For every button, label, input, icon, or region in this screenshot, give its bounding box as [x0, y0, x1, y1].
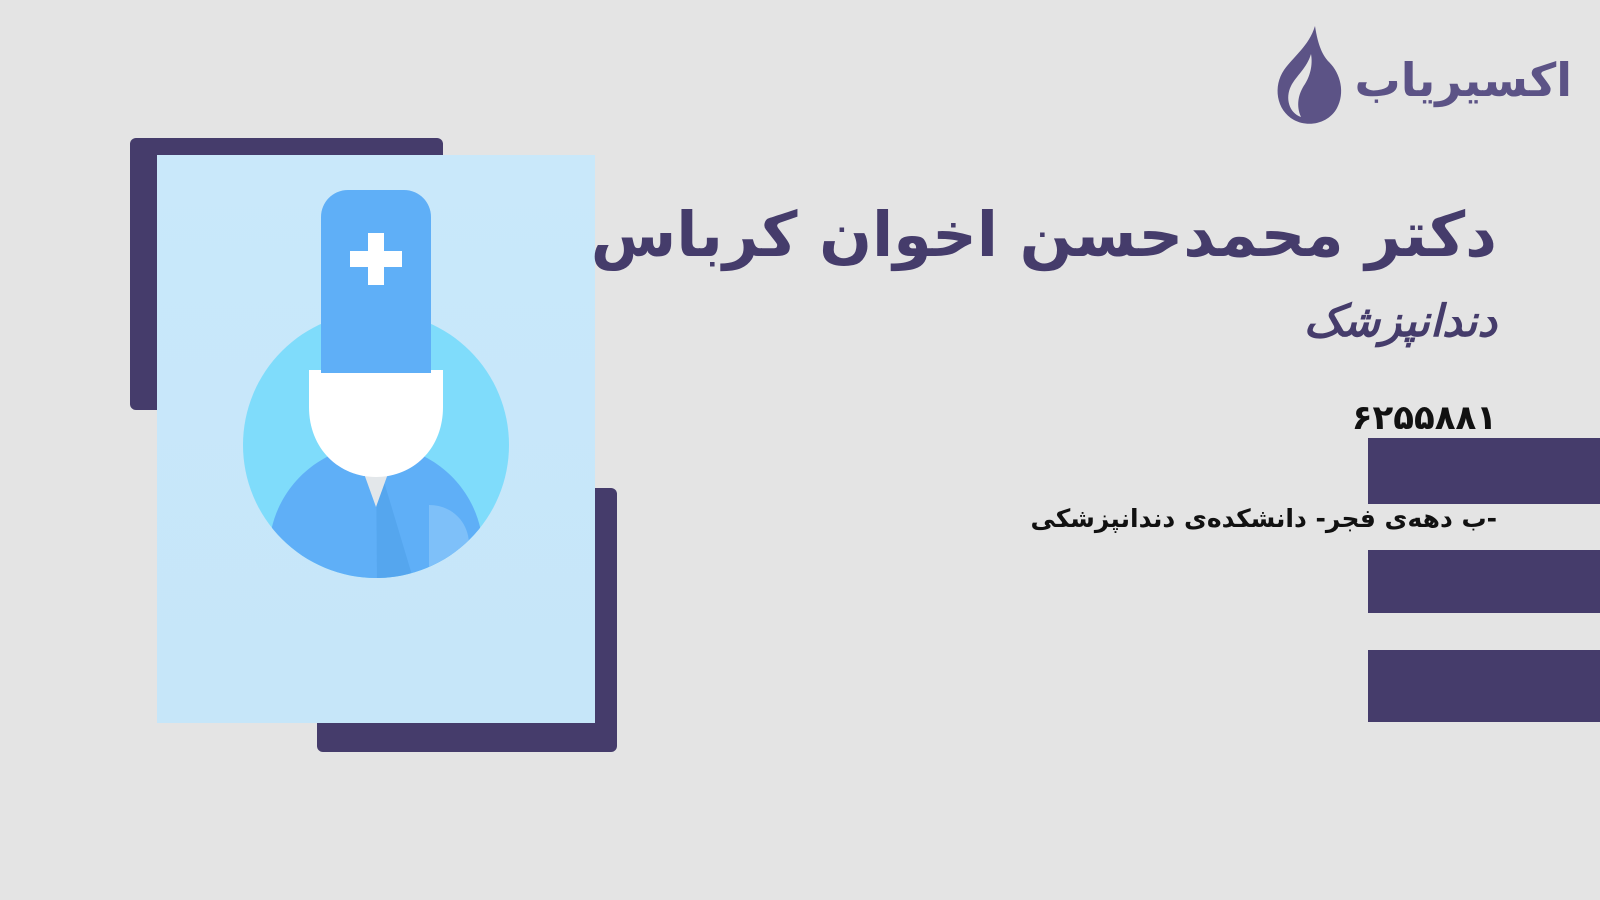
doctor-name: دکتر محمدحسن اخوان کرباس: [297, 196, 1497, 274]
doctor-phone[interactable]: ۶۲۵۵۸۸۱: [497, 398, 1497, 439]
flame-drop-icon: [1267, 24, 1345, 132]
decor-edge-bar-3: [1368, 650, 1600, 722]
brand-logo[interactable]: اکسیریاب: [1267, 24, 1573, 132]
doctor-info-block: دکتر محمدحسن اخوان کرباس دندانپزشک ۶۲۵۵۸…: [497, 196, 1497, 536]
doctor-specialty: دندانپزشک: [497, 296, 1497, 349]
doctor-address: -ب دهه‌ی فجر- دانشکده‌ی دندانپزشکی: [497, 503, 1497, 536]
doctor-profile-card: اکسیریاب: [0, 0, 1600, 900]
brand-wordmark: اکسیریاب: [1355, 57, 1573, 103]
decor-edge-bar-2: [1368, 550, 1600, 613]
